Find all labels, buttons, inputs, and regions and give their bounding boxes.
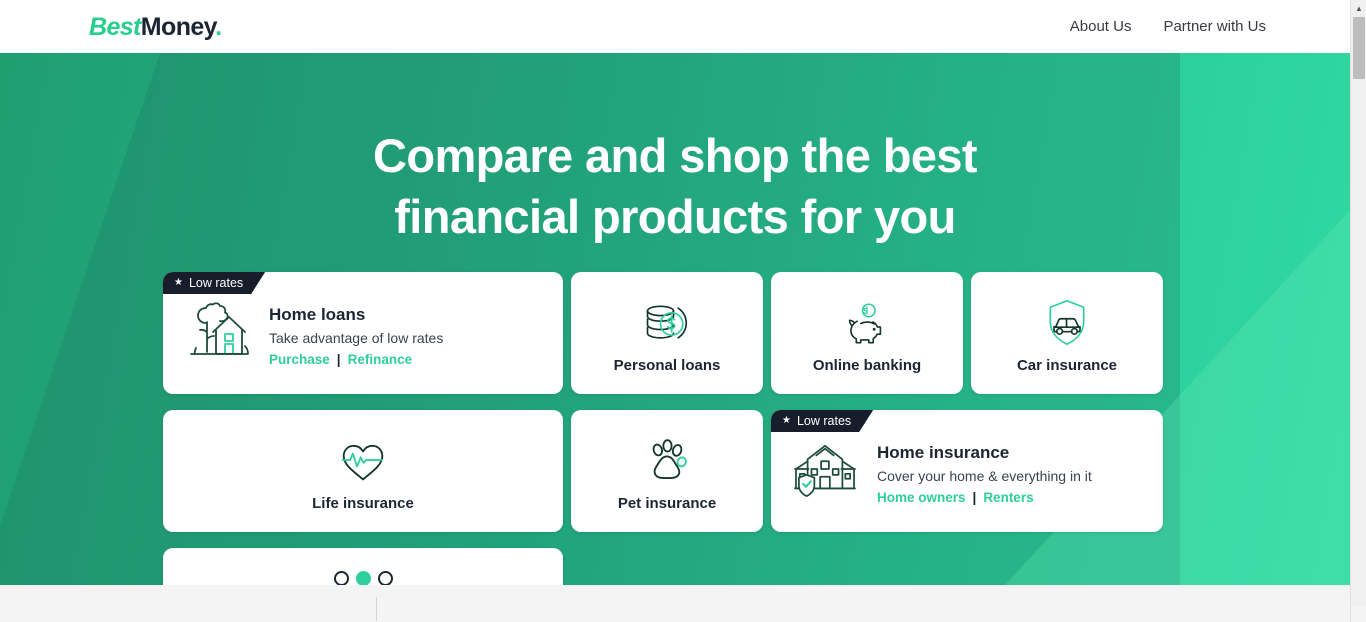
link-separator: |	[337, 352, 341, 367]
hero-heading-line2: financial products for you	[0, 186, 1350, 247]
house-shield-icon	[793, 440, 859, 502]
card-label: Online banking	[813, 357, 921, 374]
scrollbar-thumb[interactable]	[1353, 17, 1365, 79]
card-links: Purchase | Refinance	[269, 352, 443, 367]
card-title: Home loans	[269, 304, 443, 326]
product-card-grid: ★ Low rates	[163, 272, 1187, 585]
house-with-tree-icon	[185, 302, 251, 364]
dot-filled-center	[356, 571, 371, 586]
star-icon: ★	[782, 416, 791, 426]
three-dots-icon	[335, 552, 391, 585]
hero-heading-line1: Compare and shop the best	[373, 129, 977, 182]
card-label: Life insurance	[312, 495, 414, 512]
card-label: Car insurance	[1017, 357, 1117, 374]
card-label: Personal loans	[614, 357, 721, 374]
scroll-up-arrow-icon[interactable]: ▲	[1351, 0, 1366, 16]
browser-viewport: BestMoney. About Us Partner with Us Comp…	[0, 0, 1350, 622]
badge-low-rates: ★ Low rates	[163, 272, 265, 294]
bestmoney-logo[interactable]: BestMoney.	[89, 15, 221, 40]
dot-outline-right	[378, 571, 393, 586]
card-subtitle: Cover your home & everything in it	[877, 466, 1092, 487]
card-subtitle: Take advantage of low rates	[269, 328, 443, 349]
card-pet-insurance[interactable]: Pet insurance	[571, 410, 763, 532]
nav-link-about-us[interactable]: About Us	[1070, 18, 1132, 35]
logo-text-best: Best	[89, 13, 141, 41]
hero-heading: Compare and shop the best financial prod…	[0, 53, 1350, 247]
card-home-loans[interactable]: ★ Low rates	[163, 272, 563, 394]
nav-link-partner-with-us[interactable]: Partner with Us	[1163, 18, 1266, 35]
dot-outline-left	[334, 571, 349, 586]
link-separator: |	[973, 490, 977, 505]
page-root: BestMoney. About Us Partner with Us Comp…	[0, 0, 1366, 622]
paw-print-icon	[639, 435, 695, 487]
hero-section: Compare and shop the best financial prod…	[0, 53, 1350, 585]
link-home-owners[interactable]: Home owners	[877, 490, 966, 505]
logo-dot: .	[215, 13, 221, 41]
badge-label: Low rates	[797, 414, 851, 428]
link-renters[interactable]: Renters	[983, 490, 1033, 505]
badge-low-rates: ★ Low rates	[771, 410, 873, 432]
page-scrollbar[interactable]: ▲ ▼	[1350, 0, 1366, 622]
card-home-insurance[interactable]: ★ Low rates	[771, 410, 1163, 532]
card-car-insurance[interactable]: Car insurance	[971, 272, 1163, 394]
vertical-divider	[376, 597, 377, 621]
heart-pulse-icon	[335, 435, 391, 487]
card-title: Home insurance	[877, 442, 1092, 464]
link-refinance[interactable]: Refinance	[348, 352, 413, 367]
star-icon: ★	[174, 278, 183, 288]
card-life-insurance[interactable]: Life insurance	[163, 410, 563, 532]
car-shield-icon	[1039, 297, 1095, 349]
brands-strip: Explore offers from brands ROCKET SoFi V…	[0, 585, 1350, 622]
scroll-down-arrow-icon[interactable]: ▼	[1351, 606, 1366, 622]
main-nav: About Us Partner with Us	[1070, 0, 1266, 53]
site-header: BestMoney. About Us Partner with Us	[0, 0, 1350, 53]
card-personal-loans[interactable]: Personal loans	[571, 272, 763, 394]
logo-text-money: Money	[141, 13, 215, 41]
card-links: Home owners | Renters	[877, 490, 1092, 505]
badge-label: Low rates	[189, 276, 243, 290]
card-label: Pet insurance	[618, 495, 716, 512]
link-purchase[interactable]: Purchase	[269, 352, 330, 367]
coin-stack-dollar-icon	[639, 297, 695, 349]
piggy-bank-icon	[839, 297, 895, 349]
card-show-more[interactable]: Show more	[163, 548, 563, 585]
card-online-banking[interactable]: Online banking	[771, 272, 963, 394]
